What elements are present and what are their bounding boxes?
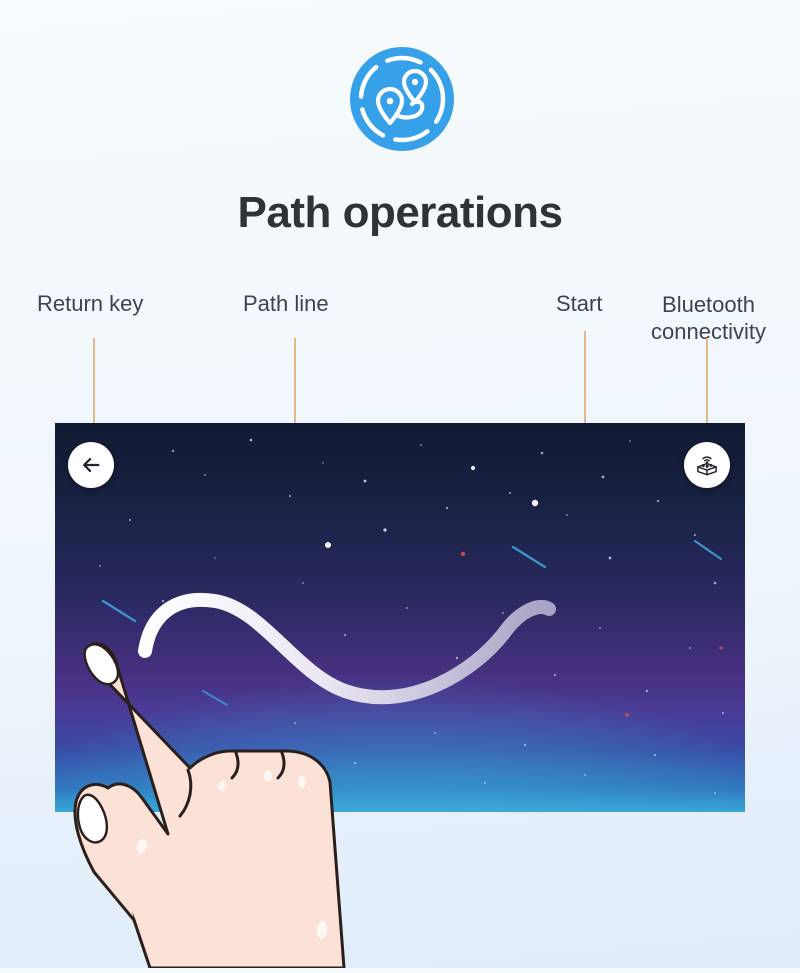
callout-label-bluetooth-connectivity: Bluetooth connectivity	[640, 291, 777, 345]
return-button[interactable]	[68, 442, 114, 488]
fingernail	[85, 644, 118, 684]
path-map-pins-icon	[350, 47, 454, 151]
robot-signal-icon	[694, 452, 720, 478]
callout-label-start: Start	[556, 291, 602, 317]
bluetooth-button[interactable]	[684, 442, 730, 488]
arrow-left-icon	[80, 454, 102, 476]
page-title: Path operations	[0, 188, 800, 238]
callout-label-path-line: Path line	[243, 291, 329, 317]
page-background: Path operations Return key Path line Sta…	[0, 0, 800, 968]
pointing-hand-illustration	[72, 620, 412, 968]
callout-label-return-key: Return key	[37, 291, 143, 317]
